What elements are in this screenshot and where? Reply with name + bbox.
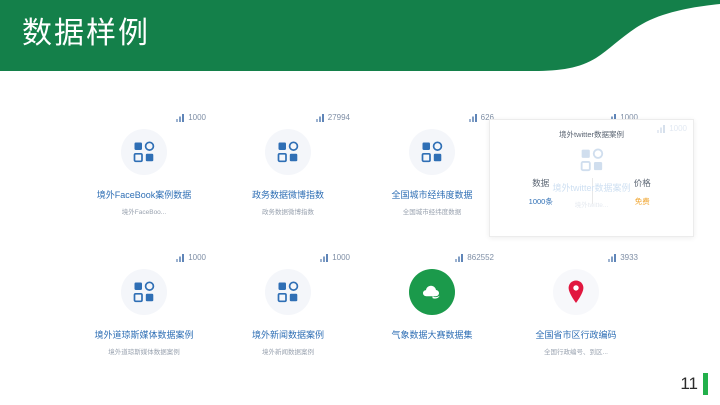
dataset-card[interactable]: 3933 全国省市区行政编码 全国行政编号、到区... [504, 248, 648, 388]
detail-columns: 数据 1000条 价格 免费 [490, 177, 693, 207]
dataset-subtitle: 境外新闻数据案例 [262, 348, 314, 357]
bar-chart-icon [176, 113, 185, 122]
dataset-subtitle: 境外FaceBoo... [122, 208, 166, 217]
cloud-icon [419, 279, 445, 305]
detail-divider [592, 178, 593, 204]
dataset-title[interactable]: 全国省市区行政编码 [535, 329, 616, 341]
bar-chart-icon [176, 253, 185, 262]
count-badge: 1000 [320, 248, 350, 262]
count-value: 1000 [188, 253, 206, 262]
dataset-icon-circle [121, 269, 167, 315]
count-badge: 1000 [176, 108, 206, 122]
dataset-title[interactable]: 政务数据微博指数 [252, 189, 324, 201]
dataset-icon-circle [409, 269, 455, 315]
detail-column-data: 数据 1000条 [490, 177, 592, 207]
bar-chart-icon [657, 124, 666, 133]
dataset-card[interactable]: 626 全国城市经纬度数据 全国城市经纬度数据 [360, 108, 504, 248]
dataset-icon-circle [265, 129, 311, 175]
detail-card-icon-wrap [579, 147, 605, 173]
dataset-icon-circle [409, 129, 455, 175]
apps-grid-icon [580, 148, 604, 172]
count-value: 1000 [669, 124, 687, 133]
dataset-title[interactable]: 全国城市经纬度数据 [391, 189, 472, 201]
count-value: 1000 [332, 253, 350, 262]
dataset-subtitle: 全国行政编号、到区... [544, 348, 608, 357]
detail-column-header: 价格 [592, 177, 694, 189]
page-footer: 11 [680, 373, 708, 395]
header-banner: 数据样例 [0, 0, 720, 78]
dataset-detail-card[interactable]: 1000 境外twitter数据案例 数据 1000条 价格 免费 境外twit… [489, 119, 694, 237]
dataset-title[interactable]: 境外新闻数据案例 [252, 329, 324, 341]
ghost-count-badge: 1000 [657, 124, 687, 133]
detail-column-value: 1000条 [490, 196, 592, 207]
count-badge: 27994 [316, 108, 350, 122]
page-number: 11 [680, 374, 698, 394]
dataset-row: 1000 境外道琼斯媒体数据案例 境外道琼斯媒体数据案例 [0, 248, 720, 388]
dataset-card[interactable]: 1000 境外新闻数据案例 境外新闻数据案例 [216, 248, 360, 388]
apps-grid-icon [277, 281, 299, 303]
bar-chart-icon [469, 113, 478, 122]
detail-column-price: 价格 免费 [592, 177, 694, 207]
dataset-title[interactable]: 境外FaceBook案例数据 [97, 189, 192, 201]
count-value: 1000 [188, 113, 206, 122]
dataset-title[interactable]: 气象数据大赛数据集 [391, 329, 472, 341]
page-title: 数据样例 [22, 14, 150, 54]
count-badge: 862552 [455, 248, 494, 262]
dataset-card[interactable]: 1000 境外FaceBook案例数据 境外FaceBoo... [72, 108, 216, 248]
count-value: 27994 [328, 113, 350, 122]
dataset-icon-circle [553, 269, 599, 315]
bar-chart-icon [608, 253, 617, 262]
count-badge: 1000 [176, 248, 206, 262]
dataset-card[interactable]: 862552 气象数据大赛数据集 [360, 248, 504, 388]
apps-grid-icon [277, 141, 299, 163]
bar-chart-icon [455, 253, 464, 262]
dataset-icon-circle [265, 269, 311, 315]
bar-chart-icon [320, 253, 329, 262]
apps-grid-icon [421, 141, 443, 163]
page-accent-bar [703, 373, 708, 395]
dataset-subtitle: 政务数据微博指数 [262, 208, 314, 217]
map-pin-icon [566, 279, 586, 305]
dataset-title[interactable]: 境外道琼斯媒体数据案例 [94, 329, 193, 341]
dataset-subtitle: 全国城市经纬度数据 [403, 208, 462, 217]
dataset-card[interactable]: 27994 政务数据微博指数 政务数据微博指数 [216, 108, 360, 248]
dataset-card[interactable]: 1000 境外道琼斯媒体数据案例 境外道琼斯媒体数据案例 [72, 248, 216, 388]
dataset-icon-circle [121, 129, 167, 175]
bar-chart-icon [316, 113, 325, 122]
apps-grid-icon [133, 141, 155, 163]
apps-grid-icon [133, 281, 155, 303]
count-badge: 3933 [608, 248, 638, 262]
detail-column-value: 免费 [592, 196, 694, 207]
count-value: 3933 [620, 253, 638, 262]
count-value: 862552 [467, 253, 494, 262]
dataset-subtitle: 境外道琼斯媒体数据案例 [108, 348, 180, 357]
detail-column-header: 数据 [490, 177, 592, 189]
